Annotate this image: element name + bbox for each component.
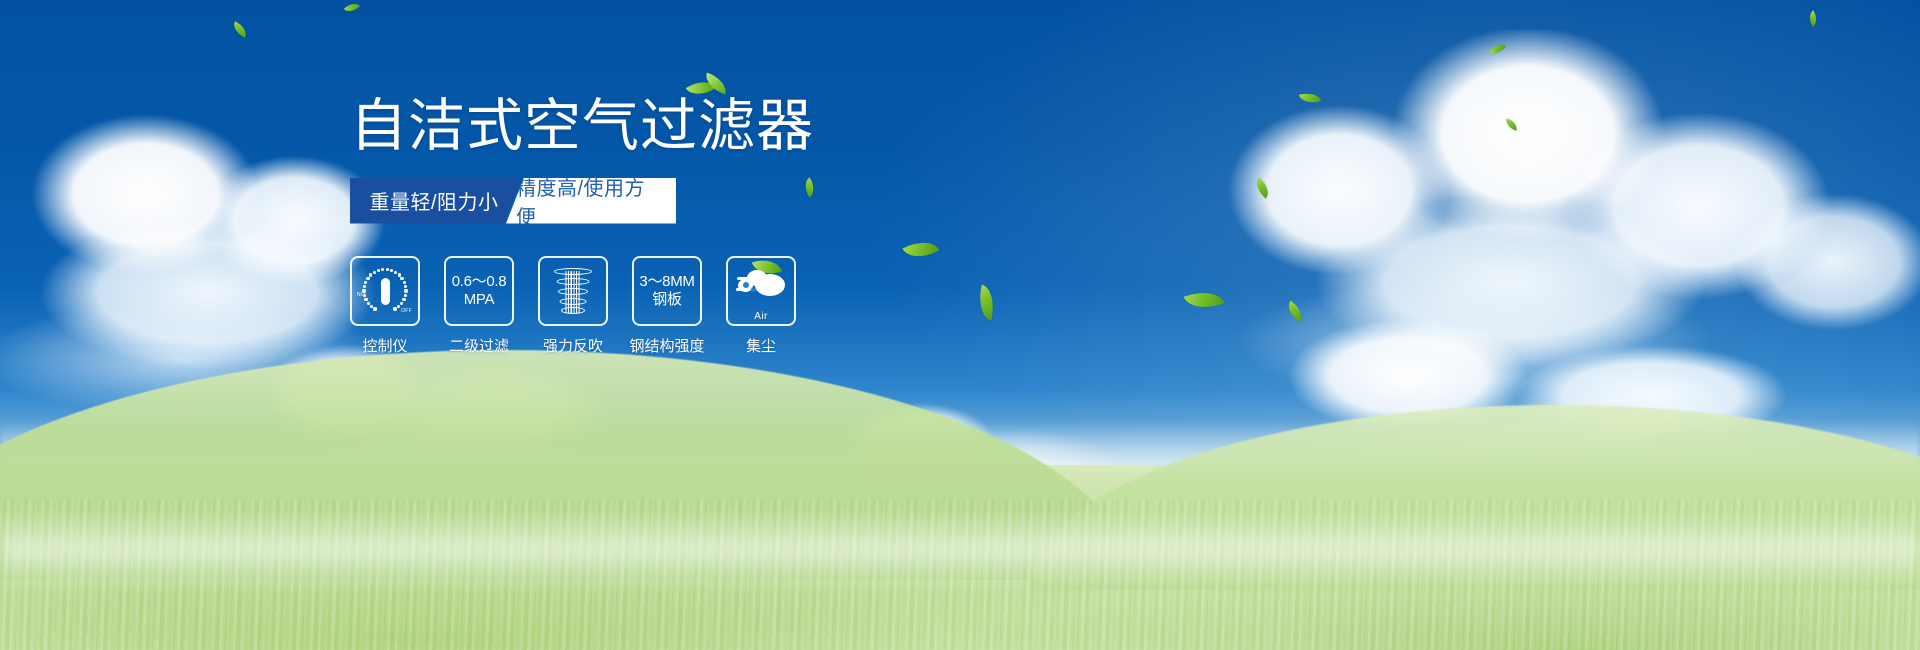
feature-icon-box: [538, 256, 608, 326]
feature-label: 二级过滤: [449, 335, 509, 356]
feature-label: 控制仪: [362, 335, 407, 356]
feature-icon-box: 3～8MM 钢板: [632, 256, 702, 326]
feature-item[interactable]: 强力反吹: [538, 256, 608, 356]
title-leaf-icon: [680, 74, 736, 108]
filter-ring: [558, 288, 588, 295]
filter-ring: [554, 268, 592, 275]
banner-content: 自洁式空气过滤器 重量轻/阻力小 精度高/使用方便 NO OFF: [350, 96, 970, 356]
filter-ring: [561, 307, 585, 314]
airflow-line: [737, 277, 753, 280]
feature-label: 钢结构强度: [630, 335, 705, 356]
ribbon-right-tag: 精度高/使用方便: [506, 178, 676, 224]
air-label: Air: [736, 311, 786, 323]
feature-item[interactable]: NO OFF 控制仪: [350, 256, 420, 356]
subtitle-ribbon: 重量轻/阻力小 精度高/使用方便: [350, 178, 675, 224]
feature-icon-box: NO OFF: [350, 256, 420, 326]
floating-leaf-icon: [1806, 10, 1821, 27]
air-cloud-icon: Air: [736, 266, 786, 310]
floating-leaf-icon: [344, 0, 360, 16]
feature-item[interactable]: 3～8MM 钢板 钢结构强度: [632, 256, 702, 356]
hero-banner: 自洁式空气过滤器 重量轻/阻力小 精度高/使用方便 NO OFF: [0, 0, 1920, 650]
ribbon-left-tag: 重量轻/阻力小: [350, 178, 522, 224]
grass-ground: [0, 465, 1920, 650]
feature-icon-box: 0.6～0.8 MPA: [444, 256, 514, 326]
pressure-unit: MPA: [452, 291, 507, 309]
feature-list: NO OFF 控制仪 0.6～0.8 MPA 二级过滤: [350, 256, 970, 356]
gauge-needle-icon: [381, 278, 390, 305]
feature-label: 强力反吹: [543, 335, 603, 356]
steel-material: 钢板: [639, 291, 694, 309]
filter-ring: [557, 278, 590, 285]
floating-leaf-icon: [975, 285, 998, 321]
feature-item[interactable]: Air 集尘: [726, 256, 796, 356]
filter-ring: [560, 298, 587, 305]
steel-thickness: 3～8MM: [639, 273, 694, 291]
gauge-icon: NO OFF: [359, 265, 411, 317]
grass-sheen: [0, 510, 1920, 590]
dust-hole: [743, 282, 749, 288]
airflow-line: [736, 288, 748, 291]
feature-label: 集尘: [746, 335, 776, 356]
pressure-value: 0.6～0.8: [452, 273, 507, 291]
filter-cartridge-icon: [550, 266, 596, 316]
gauge-off-label: OFF: [401, 309, 412, 315]
floating-leaf-icon: [230, 21, 249, 38]
feature-icon-box: Air: [726, 256, 796, 326]
gauge-on-label: NO: [357, 293, 365, 299]
dust-hole: [751, 287, 756, 292]
feature-item[interactable]: 0.6～0.8 MPA 二级过滤: [444, 256, 514, 356]
page-title: 自洁式空气过滤器: [350, 96, 970, 158]
